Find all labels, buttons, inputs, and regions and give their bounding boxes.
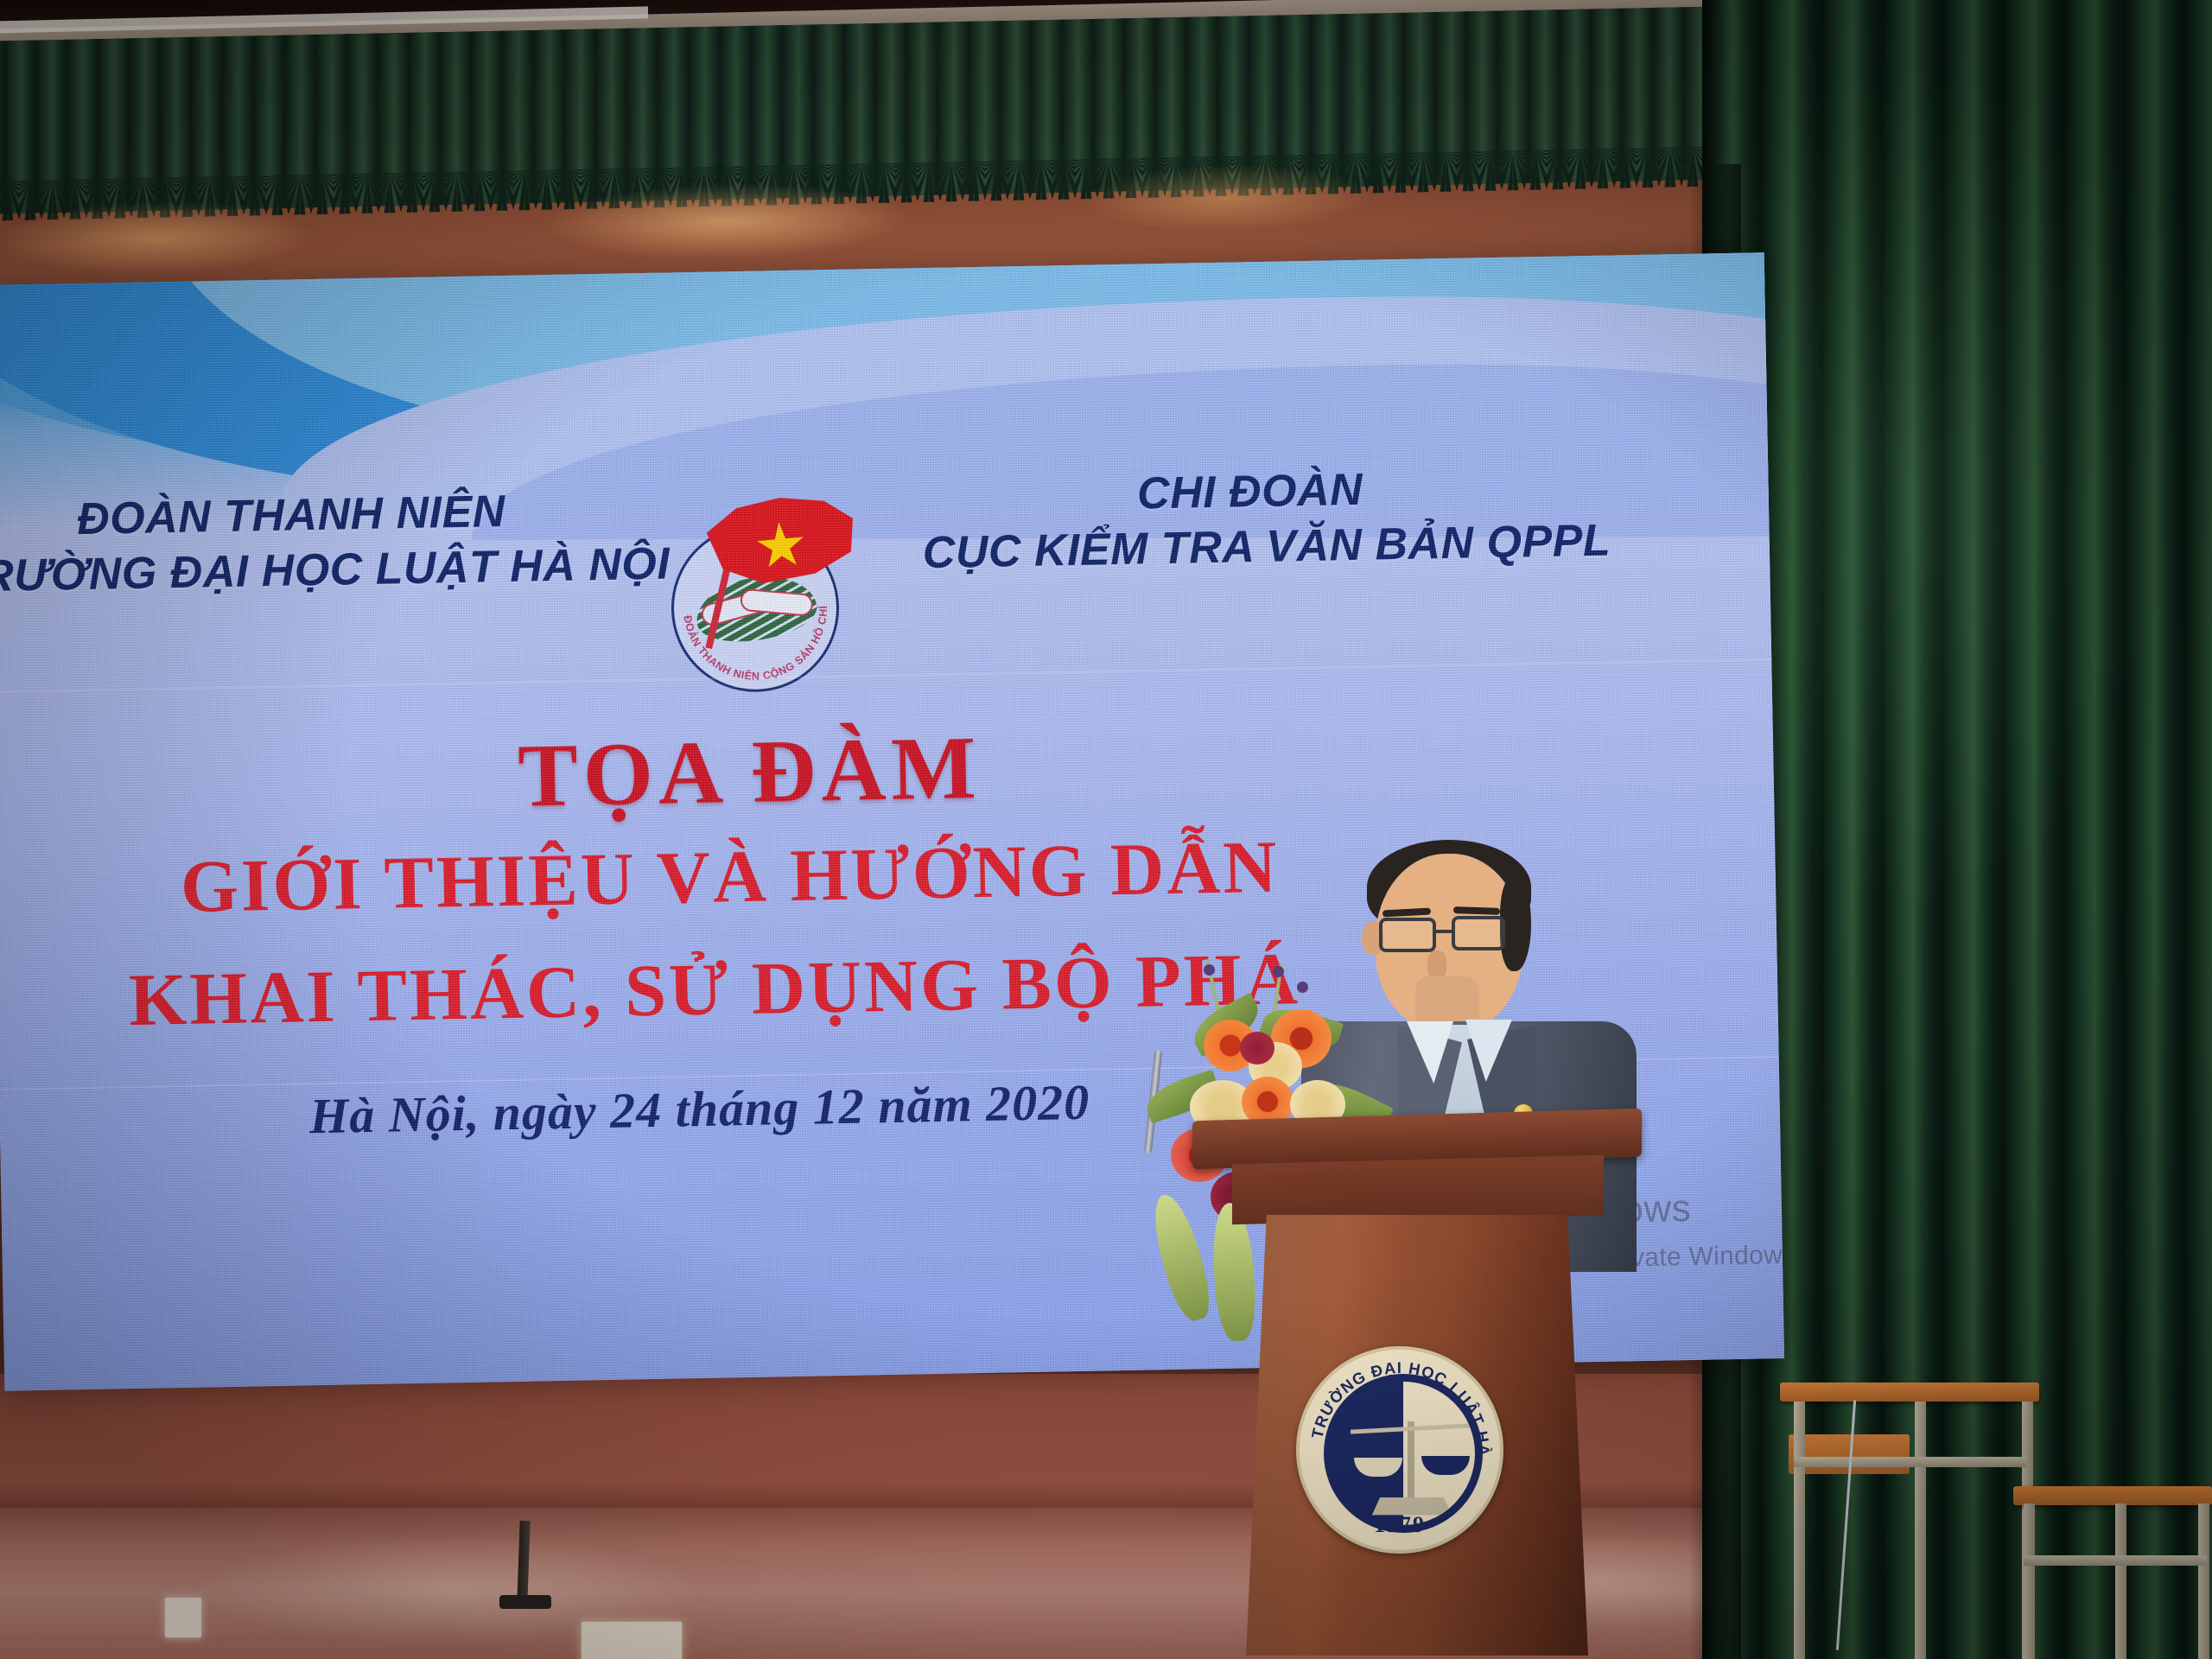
scales-post (1408, 1421, 1414, 1501)
podium: TRƯỜNG ĐẠI HỌC LUẬT HÀ NỘI 1979 (1192, 1115, 1642, 1659)
youth-union-emblem-icon: ĐOÀN THANH NIÊN CỘNG SẢN HỒ CHÍ MINH (663, 516, 848, 701)
wall-outlet-left (164, 1597, 202, 1638)
desk-front-leg-2 (1915, 1402, 1926, 1659)
speaker-glasses-right-lens (1452, 916, 1505, 950)
desk-front-leg-1 (1794, 1402, 1805, 1659)
desk-back-rail (2024, 1555, 2207, 1566)
scales-pan-left (1354, 1458, 1402, 1477)
university-seal-icon: TRƯỜNG ĐẠI HỌC LUẬT HÀ NỘI 1979 (1296, 1346, 1503, 1554)
podium-neck (1232, 1155, 1604, 1225)
slide-org-right: CHI ĐOÀN CỤC KIỂM TRA VĂN BẢN QPPL (921, 461, 1580, 577)
stage-stand-base (499, 1595, 551, 1609)
scales-pan-right (1421, 1456, 1470, 1475)
desk-back-leg-3 (2198, 1503, 2209, 1659)
speaker-glasses-left-lens (1379, 918, 1436, 952)
seal-year: 1979 (1300, 1512, 1500, 1538)
flower-maroon-1 (1240, 1032, 1274, 1065)
speaker-nose (1427, 950, 1446, 980)
flower-bud-1 (1273, 966, 1284, 977)
stage-scene: ĐOÀN THANH NIÊN RƯỜNG ĐẠI HỌC LUẬT HÀ NỘ… (0, 0, 2212, 1659)
desk-front-rail (1794, 1457, 2027, 1467)
wall-outlet-right (581, 1621, 683, 1659)
desk-front-top (1780, 1382, 2039, 1402)
flower-bud-2 (1297, 982, 1308, 993)
speaker-glasses-bridge (1434, 930, 1453, 933)
desk-back-leg-1 (2024, 1503, 2035, 1659)
slide-org-left: ĐOÀN THANH NIÊN RƯỜNG ĐẠI HỌC LUẬT HÀ NỘ… (14, 486, 569, 601)
desk-back-top (2013, 1486, 2212, 1505)
desk-back (2013, 1486, 2212, 1659)
org-left-line1: ĐOÀN THANH NIÊN (14, 486, 568, 545)
flower-bud-3 (1204, 964, 1215, 976)
org-left-line2: RƯỜNG ĐẠI HỌC LUẬT HÀ NỘI (0, 542, 569, 601)
desk-back-leg-2 (2115, 1503, 2126, 1659)
seal-inner-disc (1324, 1374, 1483, 1533)
